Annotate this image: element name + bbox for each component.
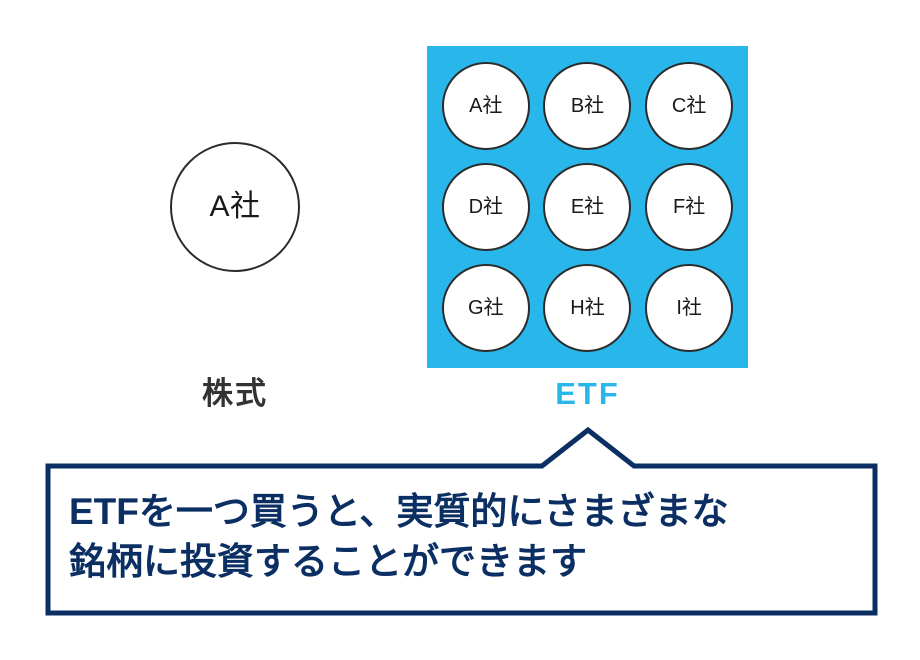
etf-company-label: G社	[468, 298, 504, 318]
stock-circle: A社	[170, 142, 300, 272]
etf-company-label: A社	[469, 96, 502, 116]
etf-company-circle: E社	[543, 163, 631, 251]
etf-company-circle: H社	[543, 264, 631, 352]
etf-company-label: D社	[469, 197, 503, 217]
etf-company-label: H社	[570, 298, 604, 318]
etf-company-circle: F社	[645, 163, 733, 251]
etf-caption: ETF	[427, 378, 748, 409]
stock-caption: 株式	[0, 378, 470, 409]
etf-company-circle: D社	[442, 163, 530, 251]
callout-line-2: 銘柄に投資することができます	[69, 537, 859, 587]
etf-company-label: E社	[571, 197, 604, 217]
callout-box: ETFを一つ買うと、実質的にさまざまな 銘柄に投資することができます	[45, 427, 878, 616]
etf-company-label: B社	[571, 96, 604, 116]
etf-company-circle: I社	[645, 264, 733, 352]
diagram-canvas: A社 A社 B社 C社 D社 E社 F社 G社 H社 I社 株式 ET	[0, 0, 920, 660]
stock-circle-label: A社	[209, 192, 260, 222]
etf-company-label: F社	[673, 197, 705, 217]
etf-company-label: I社	[676, 298, 702, 318]
etf-company-circle: G社	[442, 264, 530, 352]
etf-company-circle: A社	[442, 62, 530, 150]
etf-company-circle: B社	[543, 62, 631, 150]
etf-panel: A社 B社 C社 D社 E社 F社 G社 H社 I社	[427, 46, 748, 368]
callout-line-1: ETFを一つ買うと、実質的にさまざまな	[69, 487, 859, 537]
callout-text: ETFを一つ買うと、実質的にさまざまな 銘柄に投資することができます	[69, 487, 859, 587]
etf-company-circle: C社	[645, 62, 733, 150]
etf-company-label: C社	[672, 96, 706, 116]
